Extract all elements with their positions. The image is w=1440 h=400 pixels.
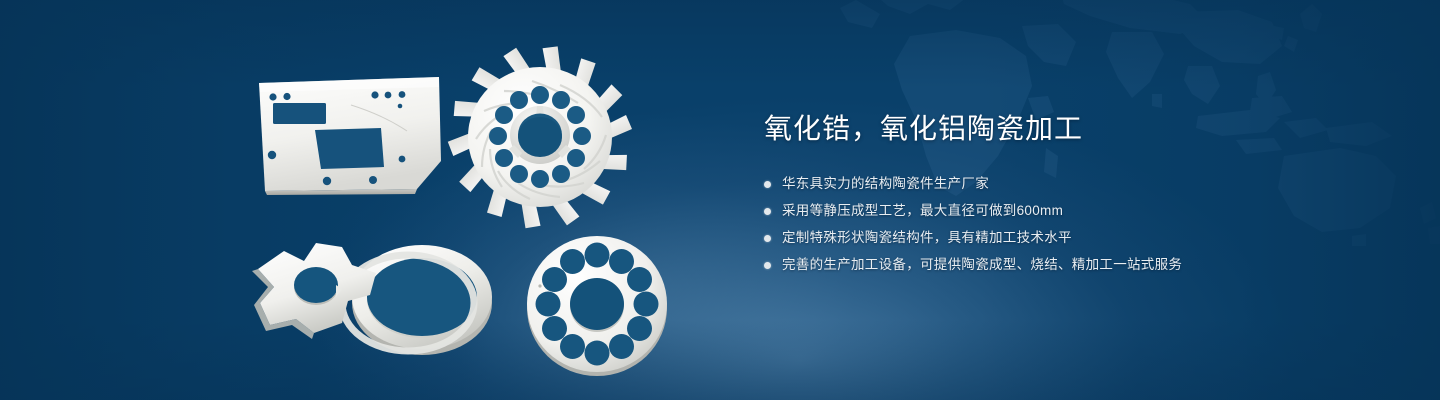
feature-text: 完善的生产加工设备，可提供陶瓷成型、烧结、精加工一站式服务 (782, 255, 1182, 275)
feature-text: 采用等静压成型工艺，最大直径可做到600mm (782, 201, 1063, 221)
list-item: 采用等静压成型工艺，最大直径可做到600mm (764, 199, 1324, 223)
ceramic-plate-image (255, 75, 445, 195)
page-title: 氧化锆，氧化铝陶瓷加工 (764, 112, 1324, 146)
banner-copy: 氧化锆，氧化铝陶瓷加工 华东具实力的结构陶瓷件生产厂家 采用等静压成型工艺，最大… (764, 112, 1324, 280)
bullet-dot-icon (764, 262, 771, 269)
ceramic-cross-ring-image (240, 225, 515, 365)
bullet-dot-icon (764, 235, 771, 242)
list-item: 完善的生产加工设备，可提供陶瓷成型、烧结、精加工一站式服务 (764, 253, 1324, 277)
bullet-dot-icon (764, 181, 771, 188)
feature-text: 定制特殊形状陶瓷结构件，具有精加工技术水平 (782, 228, 1072, 248)
bullet-dot-icon (764, 208, 771, 215)
ceramic-impeller-image (445, 45, 635, 230)
ceramic-holed-disc-image (515, 230, 680, 380)
list-item: 定制特殊形状陶瓷结构件，具有精加工技术水平 (764, 226, 1324, 250)
list-item: 华东具实力的结构陶瓷件生产厂家 (764, 172, 1324, 196)
hero-banner: 氧化锆，氧化铝陶瓷加工 华东具实力的结构陶瓷件生产厂家 采用等静压成型工艺，最大… (0, 0, 1440, 400)
feature-text: 华东具实力的结构陶瓷件生产厂家 (782, 174, 989, 194)
feature-list: 华东具实力的结构陶瓷件生产厂家 采用等静压成型工艺，最大直径可做到600mm 定… (764, 172, 1324, 277)
product-photo-group (230, 40, 730, 370)
